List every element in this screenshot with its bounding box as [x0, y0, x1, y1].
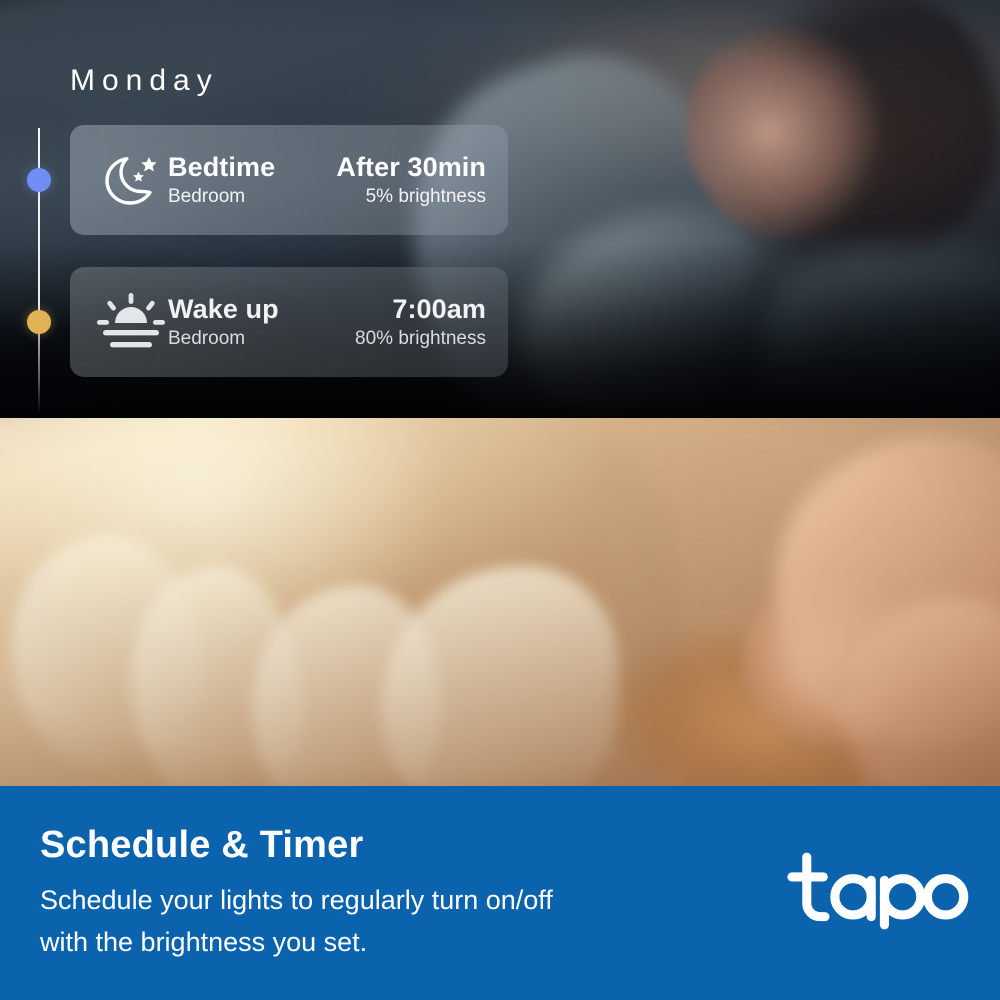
bedtime-left-column: Bedtime Bedroom	[168, 154, 275, 206]
bedtime-right-column: After 30min 5% brightness	[336, 154, 486, 206]
day-label: Monday	[70, 64, 219, 98]
wakeup-brightness: 80% brightness	[355, 329, 486, 348]
sunrise-icon	[94, 293, 168, 351]
wakeup-time: 7:00am	[392, 296, 486, 323]
schedule-card-wakeup[interactable]: Wake up Bedroom 7:00am 80% brightness	[70, 267, 508, 377]
wakeup-name: Wake up	[168, 296, 279, 323]
wakeup-left-column: Wake up Bedroom	[168, 296, 279, 348]
bedtime-room: Bedroom	[168, 187, 275, 206]
schedule-card-bedtime[interactable]: Bedtime Bedroom After 30min 5% brightnes…	[70, 125, 508, 235]
bedtime-card-text: Bedtime Bedroom After 30min 5% brightnes…	[168, 154, 486, 206]
product-banner: Schedule & Timer Schedule your lights to…	[0, 786, 1000, 1000]
morning-bedroom-photo	[0, 418, 1000, 786]
morning-vignette	[0, 418, 1000, 786]
bedtime-time: After 30min	[336, 154, 486, 181]
wakeup-room: Bedroom	[168, 329, 279, 348]
bedtime-name: Bedtime	[168, 154, 275, 181]
tapo-logo	[782, 852, 972, 930]
wakeup-right-column: 7:00am 80% brightness	[355, 296, 486, 348]
marketing-card: Monday Bedtime Bedroom After 30min 5% br…	[0, 0, 1000, 1000]
wakeup-card-text: Wake up Bedroom 7:00am 80% brightness	[168, 296, 486, 348]
banner-description: Schedule your lights to regularly turn o…	[40, 880, 740, 964]
moon-stars-icon	[94, 151, 168, 209]
schedule-overlay: Monday Bedtime Bedroom After 30min 5% br…	[0, 0, 1000, 418]
bedtime-brightness: 5% brightness	[366, 187, 486, 206]
banner-copy-line-2: with the brightness you set.	[40, 922, 740, 964]
banner-title: Schedule & Timer	[40, 824, 364, 867]
banner-copy-line-1: Schedule your lights to regularly turn o…	[40, 880, 740, 922]
